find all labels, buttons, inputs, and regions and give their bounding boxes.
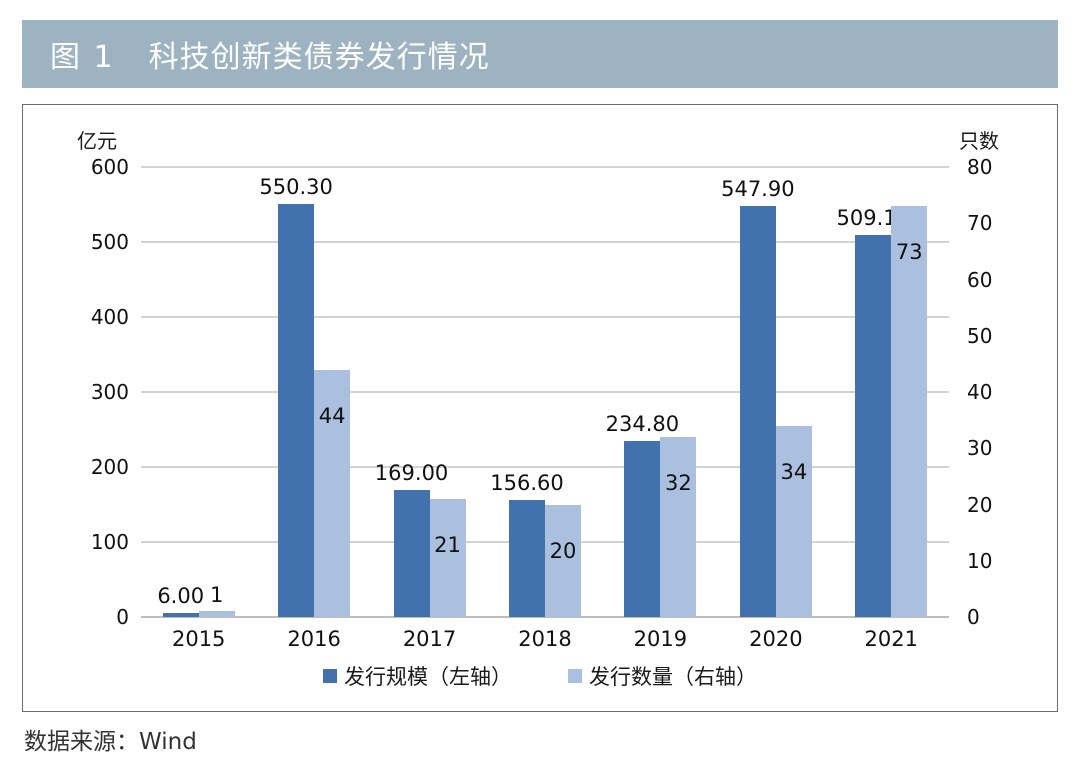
bar-count-value-label: 73 <box>896 240 923 264</box>
x-axis-tick: 2020 <box>749 627 802 651</box>
bar-group: 509.19732021 <box>834 167 949 617</box>
bar-amount[interactable]: 156.60 <box>509 500 545 617</box>
y-axis-tick-left: 0 <box>116 605 129 629</box>
bar-amount[interactable]: 547.90 <box>740 206 776 617</box>
bar-count-value-label: 1 <box>210 583 223 607</box>
y-axis-tick-left: 400 <box>91 305 129 329</box>
y-axis-tick-right: 60 <box>967 268 992 292</box>
bar-count[interactable]: 73 <box>891 206 927 617</box>
legend-item-amount: 发行规模（左轴） <box>323 661 512 691</box>
y-axis-tick-right: 30 <box>967 436 992 460</box>
plot-area: 6005004003002001000807060504030201006.00… <box>141 167 949 617</box>
bar-count[interactable]: 44 <box>314 370 350 618</box>
bar-amount-value-label: 547.90 <box>721 177 794 201</box>
bar-count[interactable]: 32 <box>660 437 696 617</box>
y-axis-tick-left: 100 <box>91 530 129 554</box>
chart-legend: 发行规模（左轴） 发行数量（右轴） <box>23 661 1057 691</box>
x-axis-tick: 2016 <box>287 627 340 651</box>
x-axis-tick: 2019 <box>634 627 687 651</box>
left-axis-unit: 亿元 <box>77 125 117 154</box>
bar-amount[interactable]: 6.00 <box>163 613 199 618</box>
legend-swatch-count-icon <box>568 669 582 683</box>
bar-group: 547.90342020 <box>718 167 833 617</box>
bar-amount[interactable]: 234.80 <box>624 441 660 617</box>
x-axis-tick: 2021 <box>865 627 918 651</box>
y-axis-tick-left: 200 <box>91 455 129 479</box>
legend-label-amount: 发行规模（左轴） <box>344 661 512 691</box>
legend-swatch-amount-icon <box>323 669 337 683</box>
y-axis-tick-right: 20 <box>967 493 992 517</box>
y-axis-tick-left: 500 <box>91 230 129 254</box>
legend-item-count: 发行数量（右轴） <box>568 661 757 691</box>
bar-amount-value-label: 234.80 <box>606 412 679 436</box>
bar-amount-value-label: 550.30 <box>259 175 332 199</box>
bar-count-value-label: 32 <box>665 471 692 495</box>
figure-index: 图 1 <box>50 32 115 76</box>
bar-count[interactable]: 20 <box>545 505 581 618</box>
y-axis-tick-right: 0 <box>967 605 980 629</box>
x-axis-tick: 2017 <box>403 627 456 651</box>
figure-title: 科技创新类债券发行情况 <box>149 32 490 76</box>
y-axis-tick-right: 50 <box>967 324 992 348</box>
bar-count-value-label: 21 <box>434 533 461 557</box>
figure-title-bar: 图 1 科技创新类债券发行情况 <box>22 20 1058 88</box>
y-axis-tick-right: 40 <box>967 380 992 404</box>
right-axis-unit: 只数 <box>959 125 999 154</box>
chart-frame: 亿元 只数 6005004003002001000807060504030201… <box>22 104 1058 712</box>
bar-amount[interactable]: 509.19 <box>855 235 891 617</box>
x-axis-tick: 2015 <box>172 627 225 651</box>
bar-count-value-label: 44 <box>319 404 346 428</box>
bar-count[interactable]: 34 <box>776 426 812 617</box>
bar-count-value-label: 34 <box>780 460 807 484</box>
bar-count[interactable]: 1 <box>199 611 235 617</box>
y-axis-tick-left: 300 <box>91 380 129 404</box>
y-axis-tick-right: 80 <box>967 155 992 179</box>
bar-group: 169.00212017 <box>372 167 487 617</box>
bar-count-value-label: 20 <box>550 539 577 563</box>
bar-amount[interactable]: 550.30 <box>278 204 314 617</box>
bar-amount-value-label: 169.00 <box>375 461 448 485</box>
bar-amount-value-label: 156.60 <box>490 471 563 495</box>
bar-group: 550.30442016 <box>256 167 371 617</box>
y-axis-tick-left: 600 <box>91 155 129 179</box>
bar-group: 6.0012015 <box>141 167 256 617</box>
source-note: 数据来源：Wind <box>24 722 197 756</box>
bar-count[interactable]: 21 <box>430 499 466 617</box>
bar-amount[interactable]: 169.00 <box>394 490 430 617</box>
bar-group: 156.60202018 <box>487 167 602 617</box>
x-axis-tick: 2018 <box>518 627 571 651</box>
figure-container: 图 1 科技创新类债券发行情况 亿元 只数 600500400300200100… <box>0 0 1080 759</box>
legend-label-count: 发行数量（右轴） <box>589 661 757 691</box>
bar-amount-value-label: 6.00 <box>157 584 204 608</box>
bar-group: 234.80322019 <box>603 167 718 617</box>
y-axis-tick-right: 10 <box>967 549 992 573</box>
y-axis-tick-right: 70 <box>967 211 992 235</box>
